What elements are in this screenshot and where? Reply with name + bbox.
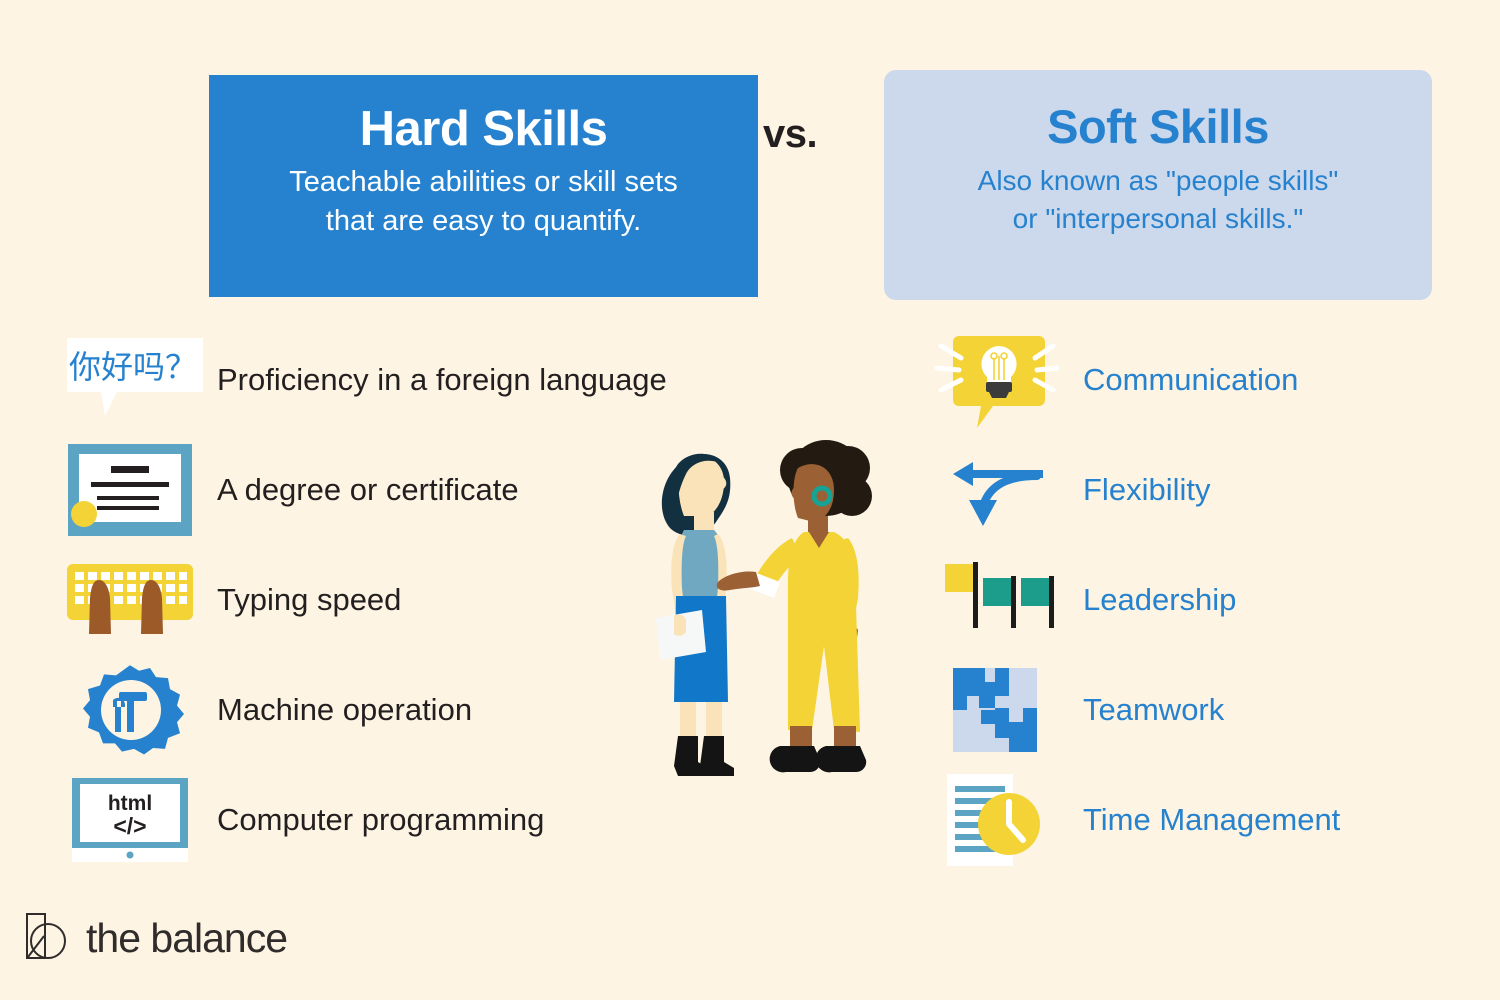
code-tag-text: </> xyxy=(113,813,146,839)
list-item-label: Machine operation xyxy=(205,693,472,727)
list-item-label: Typing speed xyxy=(205,583,401,617)
hard-skills-subtitle: Teachable abilities or skill sets that a… xyxy=(209,163,758,240)
list-item-label: Computer programming xyxy=(205,803,544,837)
puzzle-pieces-icon xyxy=(925,660,1065,760)
html-label-text: html xyxy=(108,792,152,815)
list-item: Teamwork xyxy=(925,655,1445,765)
soft-skills-title: Soft Skills xyxy=(884,100,1432,154)
infographic-canvas: Hard Skills Teachable abilities or skill… xyxy=(0,0,1500,1000)
monitor-html-icon: html </> xyxy=(55,770,205,870)
list-item: 你好吗？ Proficiency in a foreign language xyxy=(55,325,755,435)
hard-skills-subtitle-line1: Teachable abilities or skill sets xyxy=(227,163,740,201)
list-item-label: Flexibility xyxy=(1065,473,1210,507)
soft-skills-list: Communication Flexibility xyxy=(925,325,1445,875)
keyboard-hands-icon xyxy=(55,550,205,650)
certificate-icon xyxy=(55,440,205,540)
soft-skills-subtitle-line1: Also known as "people skills" xyxy=(906,162,1410,200)
hard-skills-header-box: Hard Skills Teachable abilities or skill… xyxy=(209,75,758,297)
soft-skills-subtitle: Also known as "people skills" or "interp… xyxy=(884,162,1432,237)
list-item: Leadership xyxy=(925,545,1445,655)
list-item: Communication xyxy=(925,325,1445,435)
list-item-label: Leadership xyxy=(1065,583,1236,617)
logo-text: the balance xyxy=(86,915,287,962)
gear-tools-icon xyxy=(55,660,205,760)
list-item: Time Management xyxy=(925,765,1445,875)
hard-skills-title: Hard Skills xyxy=(209,101,758,157)
soft-skills-header-box: Soft Skills Also known as "people skills… xyxy=(884,70,1432,300)
soft-skills-subtitle-line2: or "interpersonal skills." xyxy=(906,200,1410,238)
list-item-label: Time Management xyxy=(1065,803,1340,837)
bending-arrow-icon xyxy=(925,440,1065,540)
list-item-label: Communication xyxy=(1065,363,1298,397)
speech-bubble-lightbulb-icon xyxy=(925,330,1065,430)
three-flags-icon xyxy=(925,550,1065,650)
chinese-greeting-text: 你好吗？ xyxy=(69,348,197,386)
balance-logo-mark-icon xyxy=(24,910,72,967)
list-item-label: Proficiency in a foreign language xyxy=(205,363,667,397)
list-item-label: Teamwork xyxy=(1065,693,1224,727)
document-clock-icon xyxy=(925,770,1065,870)
speech-bubble-chinese-icon: 你好吗？ xyxy=(55,330,205,430)
two-women-conversing-illustration xyxy=(620,430,900,800)
list-item-label: A degree or certificate xyxy=(205,473,519,507)
versus-label: vs. xyxy=(763,112,883,157)
list-item: Flexibility xyxy=(925,435,1445,545)
the-balance-logo: the balance xyxy=(24,910,287,967)
hard-skills-subtitle-line2: that are easy to quantify. xyxy=(227,202,740,240)
